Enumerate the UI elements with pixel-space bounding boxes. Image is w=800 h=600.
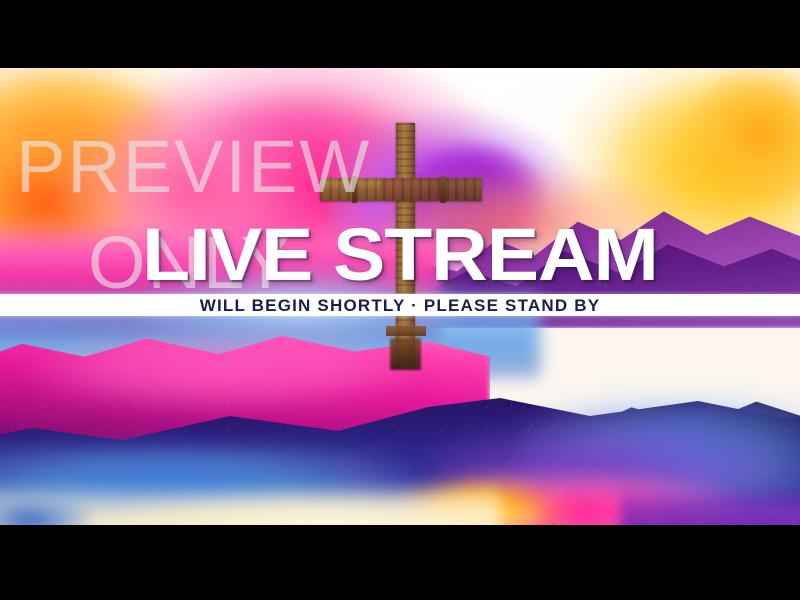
letterbox-bottom [0, 525, 800, 600]
letterbox-top [0, 0, 800, 68]
wash-violet-lower [430, 418, 800, 525]
mountain-pink-lower [0, 323, 490, 453]
wash-cream-base [0, 483, 500, 525]
wash-purple-bottom-right [620, 488, 800, 525]
wash-pink-glow-lower [30, 330, 410, 410]
watermark-line-preview: PREVIEW [16, 130, 371, 204]
slide-canvas: PREVIEW ONLY LIVE STREAM WILL BEGIN SHOR… [0, 0, 800, 600]
wash-gold-haze [200, 78, 430, 188]
mountain-indigo-right [330, 368, 800, 508]
cross-horizontal-tint [380, 178, 482, 201]
page-title: LIVE STREAM [0, 215, 800, 295]
cross-horizontal-grain [320, 178, 482, 201]
wash-blue-mist-left [0, 448, 420, 525]
subtitle-bar: WILL BEGIN SHORTLY · PLEASE STAND BY [0, 294, 800, 316]
wash-gold-bottom [400, 473, 580, 525]
wash-blue-mist-right [520, 398, 800, 525]
cross-band-left [352, 176, 357, 203]
cross-horizontal-beam [320, 178, 482, 201]
cross-base [390, 338, 421, 370]
wash-magenta-bottom [460, 468, 760, 525]
subtitle-text: WILL BEGIN SHORTLY · PLEASE STAND BY [200, 297, 601, 314]
wash-cream-highlight [120, 493, 540, 525]
wash-gold-core [680, 68, 800, 218]
cross-lower-crossbar [386, 326, 426, 336]
cross-band-right [440, 176, 446, 203]
wash-blue-bottom-left [0, 498, 90, 525]
mountain-indigo [0, 380, 800, 525]
